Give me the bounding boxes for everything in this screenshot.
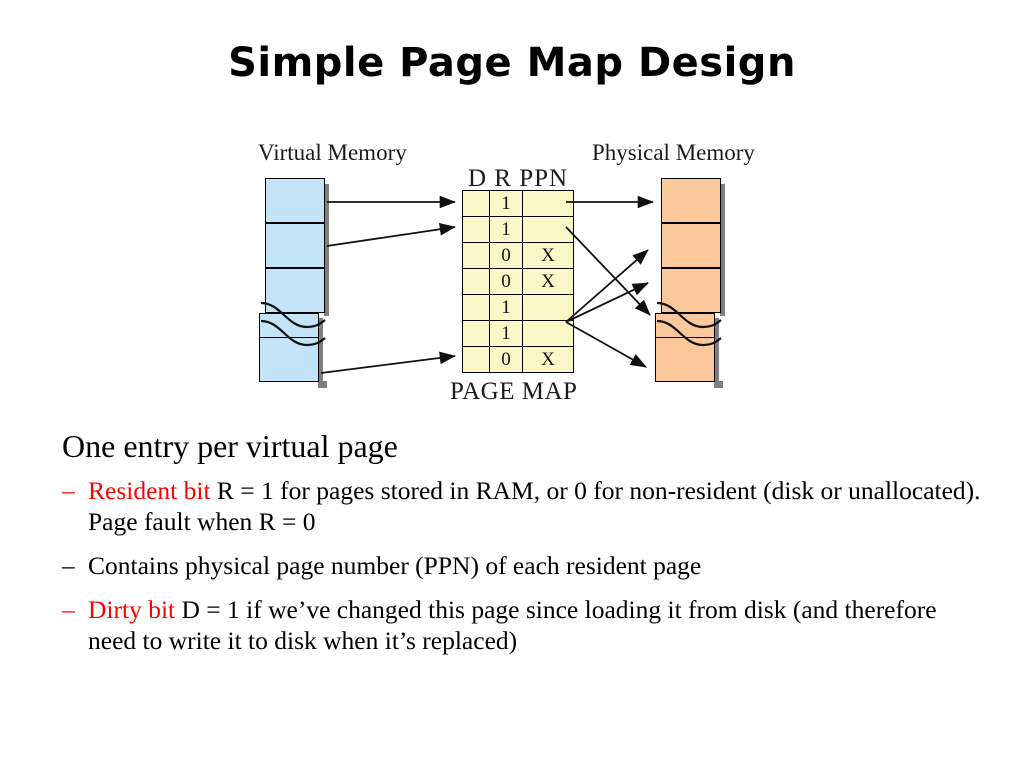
cell-resident-bit: 0 bbox=[490, 347, 523, 373]
page-map-label: PAGE MAP bbox=[450, 378, 577, 406]
cell-dirty-bit bbox=[463, 269, 490, 295]
table-row: 0 X bbox=[463, 269, 574, 295]
cell-ppn bbox=[523, 321, 574, 347]
virtual-page-cell bbox=[265, 178, 325, 223]
table-row: 1 bbox=[463, 217, 574, 243]
slide-body: One entry per virtual page –Resident bit… bbox=[62, 428, 982, 669]
cell-dirty-bit bbox=[463, 217, 490, 243]
arrow-pm-row7 bbox=[566, 322, 646, 367]
cell-resident-bit: 1 bbox=[490, 191, 523, 217]
arrow-pm-row2 bbox=[566, 227, 650, 315]
virtual-memory-label: Virtual Memory bbox=[258, 140, 407, 166]
cell-ppn: X bbox=[523, 243, 574, 269]
bullet-dash: – bbox=[62, 475, 75, 506]
cell-ppn: X bbox=[523, 347, 574, 373]
cell-dirty-bit bbox=[463, 321, 490, 347]
bullet-dash: – bbox=[62, 550, 75, 581]
virtual-memory-break-squiggle bbox=[255, 295, 335, 355]
bullet-highlight: Dirty bit bbox=[88, 595, 175, 624]
physical-page-cell bbox=[661, 223, 721, 268]
arrow-vm-row7 bbox=[321, 356, 455, 373]
cell-resident-bit: 1 bbox=[490, 295, 523, 321]
table-row: 1 bbox=[463, 295, 574, 321]
bullet-text: Contains physical page number (PPN) of e… bbox=[88, 551, 701, 580]
cell-dirty-bit bbox=[463, 295, 490, 321]
table-row: 1 bbox=[463, 191, 574, 217]
physical-memory-label: Physical Memory bbox=[592, 140, 755, 166]
cell-ppn bbox=[523, 217, 574, 243]
arrow-vm-row2 bbox=[327, 227, 455, 246]
table-row: 0 X bbox=[463, 243, 574, 269]
cell-ppn bbox=[523, 295, 574, 321]
arrow-pm-row5 bbox=[566, 250, 648, 322]
cell-dirty-bit bbox=[463, 243, 490, 269]
table-row: 1 bbox=[463, 321, 574, 347]
page-map-column-headers-label: D R PPN bbox=[468, 165, 568, 193]
table-row: 0 X bbox=[463, 347, 574, 373]
pm-shadow-foot bbox=[718, 381, 723, 388]
bullet-dash: – bbox=[62, 594, 75, 625]
cell-ppn bbox=[523, 191, 574, 217]
list-item: –Contains physical page number (PPN) of … bbox=[62, 550, 982, 581]
cell-resident-bit: 0 bbox=[490, 243, 523, 269]
page-title: Simple Page Map Design bbox=[0, 40, 1024, 86]
vm-shadow-foot bbox=[322, 381, 327, 388]
cell-resident-bit: 1 bbox=[490, 321, 523, 347]
virtual-page-cell bbox=[265, 223, 325, 268]
bullet-text: R = 1 for pages stored in RAM, or 0 for … bbox=[88, 476, 981, 536]
cell-ppn: X bbox=[523, 269, 574, 295]
cell-resident-bit: 1 bbox=[490, 217, 523, 243]
cell-dirty-bit bbox=[463, 191, 490, 217]
list-item: –Resident bit R = 1 for pages stored in … bbox=[62, 475, 982, 537]
physical-page-cell bbox=[661, 178, 721, 223]
page-map-table: 1 1 0 X 0 X 1 bbox=[462, 190, 574, 373]
page-map-diagram: Virtual Memory Physical Memory D R PPN P… bbox=[0, 130, 1024, 420]
cell-dirty-bit bbox=[463, 347, 490, 373]
list-item: –Dirty bit D = 1 if we’ve changed this p… bbox=[62, 594, 982, 656]
arrow-pm-row6 bbox=[566, 283, 648, 322]
physical-memory-break-squiggle bbox=[651, 295, 731, 355]
page-map-rows: 1 1 0 X 0 X 1 bbox=[463, 191, 574, 373]
cell-resident-bit: 0 bbox=[490, 269, 523, 295]
bullet-highlight: Resident bit bbox=[88, 476, 211, 505]
lead-statement: One entry per virtual page bbox=[62, 428, 982, 465]
bullet-text: D = 1 if we’ve changed this page since l… bbox=[88, 595, 937, 655]
